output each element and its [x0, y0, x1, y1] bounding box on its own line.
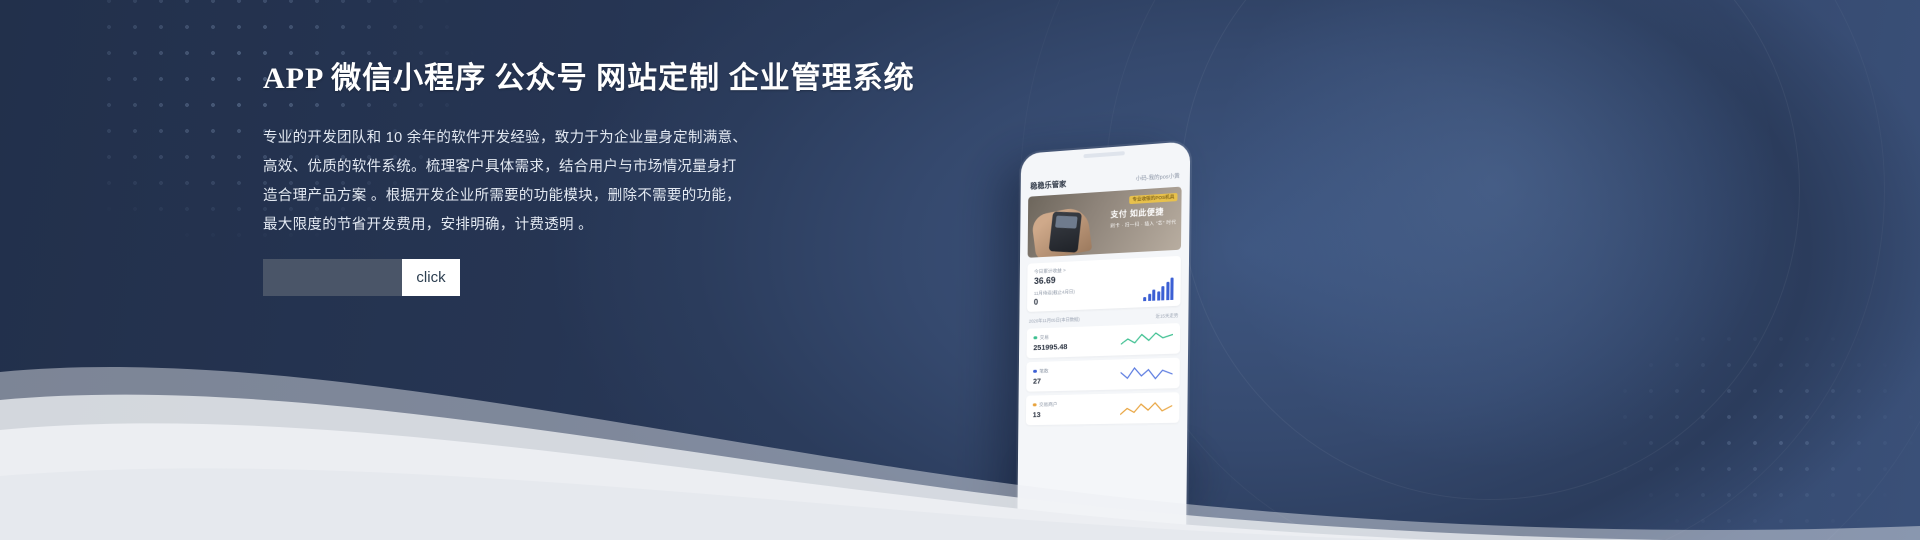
promo-subline: 刷卡 · 扫一扫 · 插入 "芯" 时代: [1110, 219, 1176, 229]
hero-content: APP 微信小程序 公众号 网站定制 企业管理系统 专业的开发团队和 10 余年…: [263, 58, 1023, 240]
hero-description: 专业的开发团队和 10 余年的软件开发经验，致力于为企业量身定制满意、 高效、优…: [263, 124, 763, 240]
hero-banner: APP 微信小程序 公众号 网站定制 企业管理系统 专业的开发团队和 10 余年…: [0, 0, 1920, 540]
app-title: 稳稳乐管家: [1030, 178, 1066, 191]
description-line: 造合理产品方案 。根据开发企业所需要的功能模块，删除不需要的功能，: [263, 182, 763, 211]
app-subtitle: 小码-我的pos小黄: [1136, 171, 1180, 182]
description-line: 最大限度的节省开发费用，安排明确，计费透明 。: [263, 211, 763, 240]
wave-decoration: [0, 240, 1920, 540]
promo-text: 支付 如此便捷 刷卡 · 扫一扫 · 插入 "芯" 时代: [1110, 205, 1176, 229]
description-line: 专业的开发团队和 10 余年的软件开发经验，致力于为企业量身定制满意、: [263, 124, 763, 153]
description-line: 高效、优质的软件系统。梳理客户具体需求，结合用户与市场情况量身打: [263, 153, 763, 182]
promo-tag: 专业收银的POS机具: [1129, 193, 1177, 204]
page-title: APP 微信小程序 公众号 网站定制 企业管理系统: [263, 58, 1023, 100]
phone-speaker: [1083, 151, 1124, 158]
promo-headline: 支付 如此便捷: [1110, 205, 1176, 220]
